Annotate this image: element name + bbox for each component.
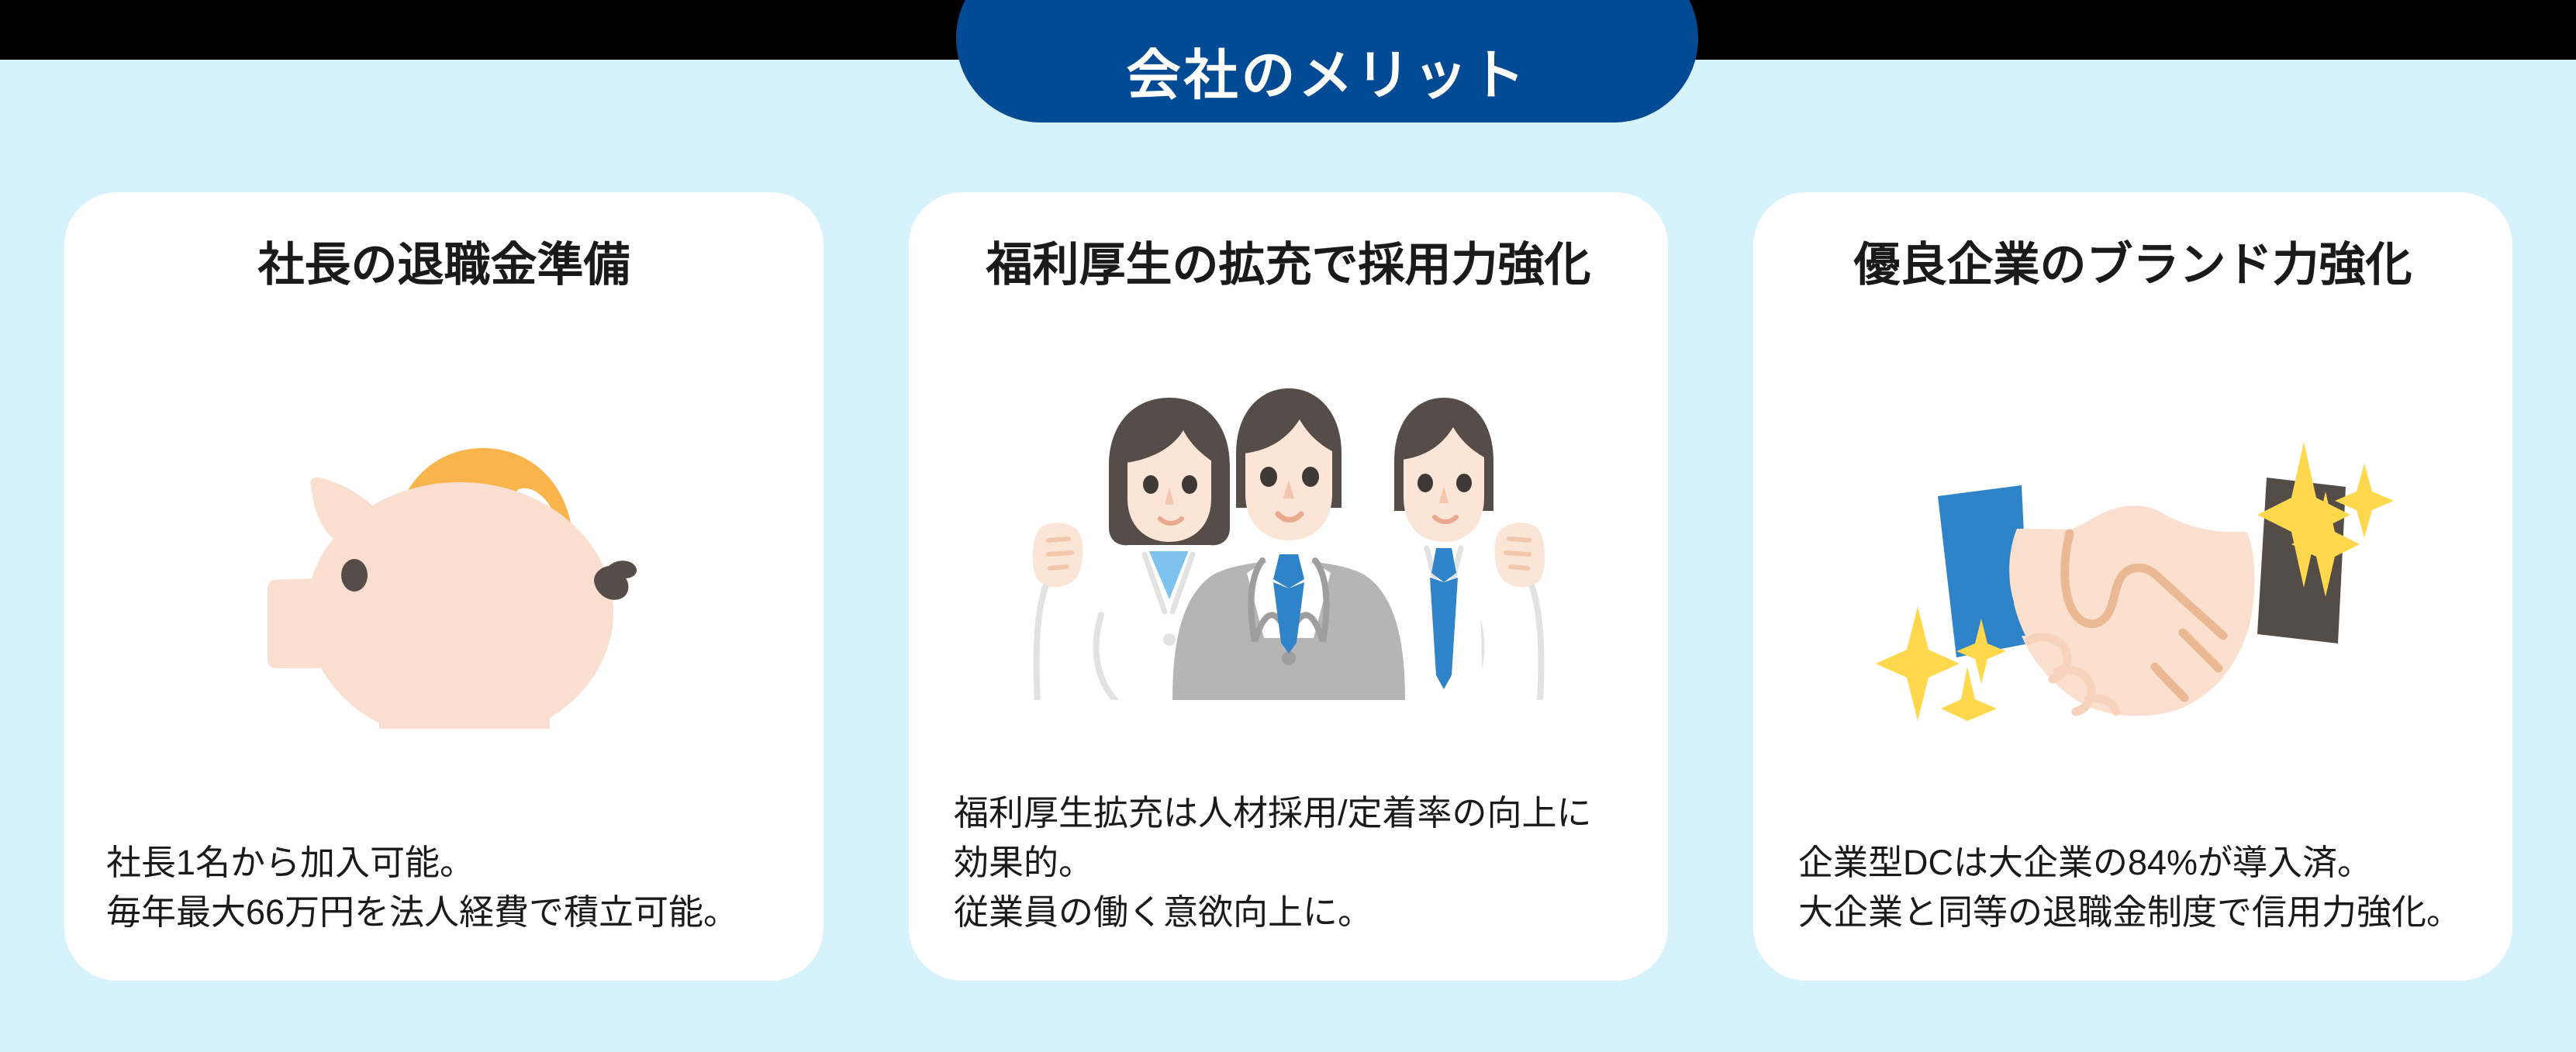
card-title: 社長の退職金準備	[64, 237, 824, 293]
benefit-card-brand[interactable]: 優良企業のブランド力強化	[1753, 192, 2512, 981]
card-body-text: 企業型DCは大企業の84%が導入済。 大企業と同等の退職金制度で信用力強化。	[1753, 838, 2512, 981]
section-title-text: 会社のメリット	[1127, 48, 1528, 102]
three-business-people-icon	[909, 293, 1668, 788]
card-body-text: 社長1名から加入可能。 毎年最大66万円を法人経費で積立可能。	[64, 838, 824, 981]
card-body-text: 福利厚生拡充は人材採用/定着率の向上に効果的。 従業員の働く意欲向上に。	[909, 788, 1668, 981]
piggy-bank-with-coin-icon	[64, 293, 824, 838]
card-title: 優良企業のブランド力強化	[1753, 237, 2512, 293]
handshake-with-sparkles-icon	[1753, 293, 2512, 838]
benefit-card-retirement[interactable]: 社長の退職金準備	[64, 192, 824, 981]
slide-canvas: 会社のメリット 社長の退職金準備	[0, 0, 2576, 1052]
section-title-badge: 会社のメリット	[956, 0, 1698, 122]
card-title: 福利厚生の拡充で採用力強化	[909, 237, 1668, 293]
benefit-card-welfare[interactable]: 福利厚生の拡充で採用力強化	[909, 192, 1668, 981]
benefit-card-list: 社長の退職金準備	[64, 192, 2512, 981]
